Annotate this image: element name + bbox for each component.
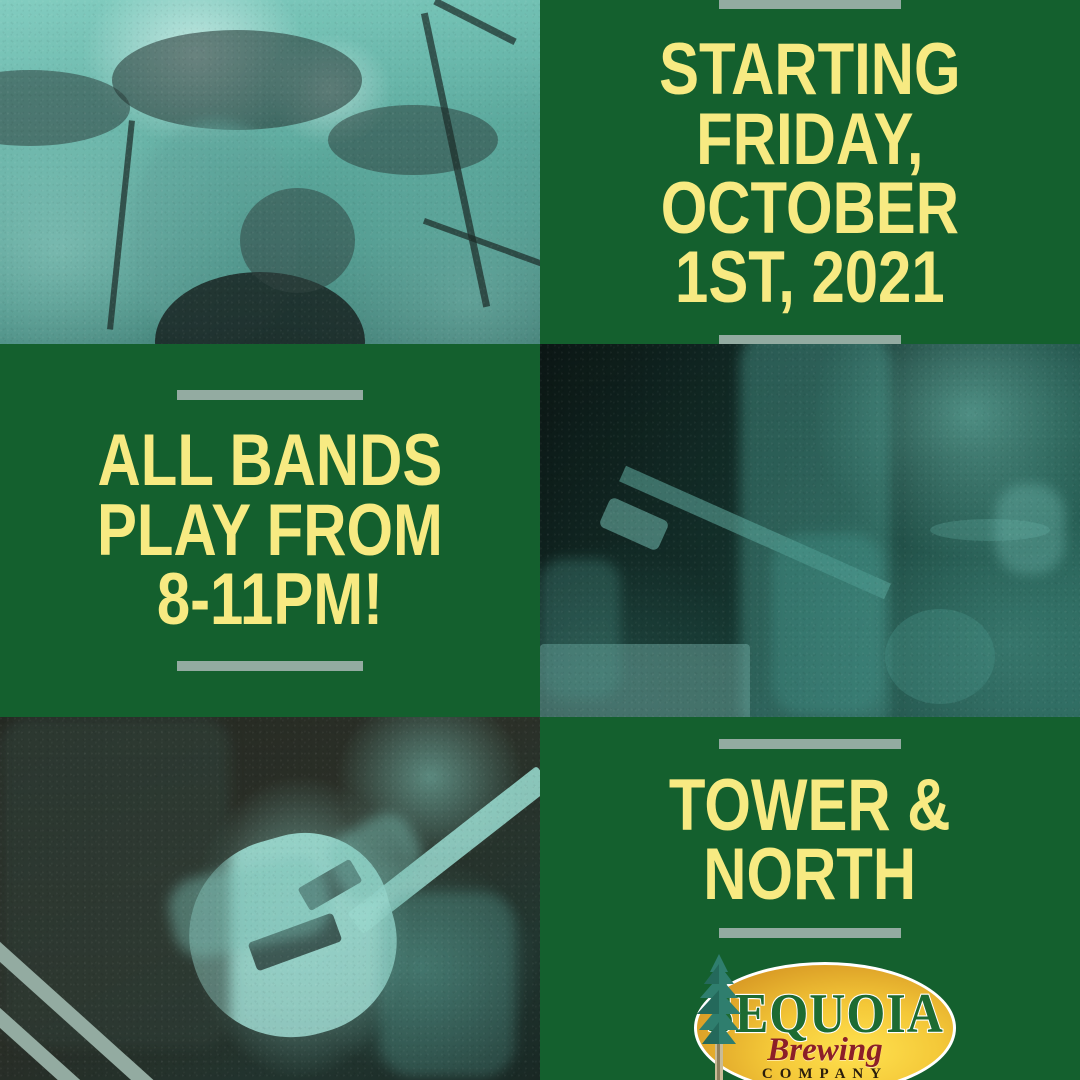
sequoia-brewing-logo: SEQUOIA Brewing COMPANY	[660, 952, 960, 1080]
text-panel-time: ALL BANDS PLAY FROM 8-11PM!	[0, 344, 540, 717]
guitarist-image	[0, 717, 540, 1080]
rule-bottom-date	[719, 335, 901, 344]
rule-bottom-venue	[719, 928, 901, 938]
photo-panel-guitarist	[0, 717, 540, 1080]
text-panel-date: STARTING FRIDAY, OCTOBER 1ST, 2021	[540, 0, 1080, 344]
drummer-image	[0, 0, 540, 344]
time-headline: ALL BANDS PLAY FROM 8-11PM!	[97, 426, 443, 634]
venue-headline: TOWER & NORTH	[669, 771, 951, 910]
event-poster: STARTING FRIDAY, OCTOBER 1ST, 2021 ALL B…	[0, 0, 1080, 1080]
date-headline: STARTING FRIDAY, OCTOBER 1ST, 2021	[659, 35, 961, 312]
bassist-image	[540, 344, 1080, 717]
photo-panel-bassist	[540, 344, 1080, 717]
rule-top-venue	[719, 739, 901, 749]
photo-panel-drummer	[0, 0, 540, 344]
text-panel-venue: TOWER & NORTH	[540, 717, 1080, 1080]
rule-bottom-time	[177, 661, 363, 671]
rule-top-time	[177, 390, 363, 400]
rule-top-date	[719, 0, 901, 9]
sequoia-tree-icon	[688, 952, 752, 1080]
